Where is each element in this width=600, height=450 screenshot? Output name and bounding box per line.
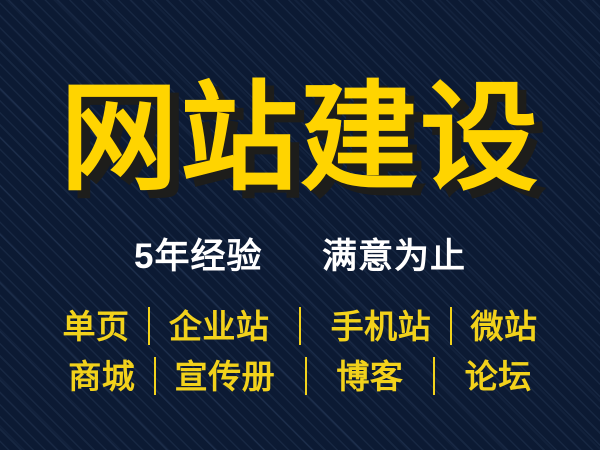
service-list-row-2: 商城 宣传册 博客 论坛 — [0, 353, 600, 399]
service-item-shoujizhan: 手机站 — [331, 305, 432, 349]
promo-poster: 网站建设 网站建设 5年经验 满意为止 单页 企业站 手机站 微站 商城 宣传册… — [0, 0, 600, 450]
service-item-luntan: 论坛 — [465, 355, 532, 399]
service-item-qiyezhan: 企业站 — [169, 305, 270, 349]
separator-icon — [305, 357, 307, 395]
separator-icon — [148, 307, 150, 345]
subtitle-right: 满意为止 — [322, 237, 466, 276]
headline-text: 网站建设 — [0, 74, 600, 204]
separator-icon — [450, 307, 452, 345]
service-item-boke: 博客 — [336, 355, 403, 399]
separator-icon — [154, 357, 156, 395]
service-list-row-1: 单页 企业站 手机站 微站 — [0, 303, 600, 347]
subtitle-group: 5年经验 满意为止 — [0, 234, 600, 280]
service-item-xuanchuance: 宣传册 — [175, 355, 276, 399]
service-item-shangcheng: 商城 — [68, 355, 135, 399]
separator-icon — [433, 357, 435, 395]
service-item-danye: 单页 — [62, 305, 129, 349]
subtitle-left: 5年经验 — [134, 237, 262, 276]
separator-icon — [299, 307, 301, 345]
service-item-weizhan: 微站 — [471, 305, 538, 349]
headline-group: 网站建设 网站建设 — [0, 74, 600, 214]
